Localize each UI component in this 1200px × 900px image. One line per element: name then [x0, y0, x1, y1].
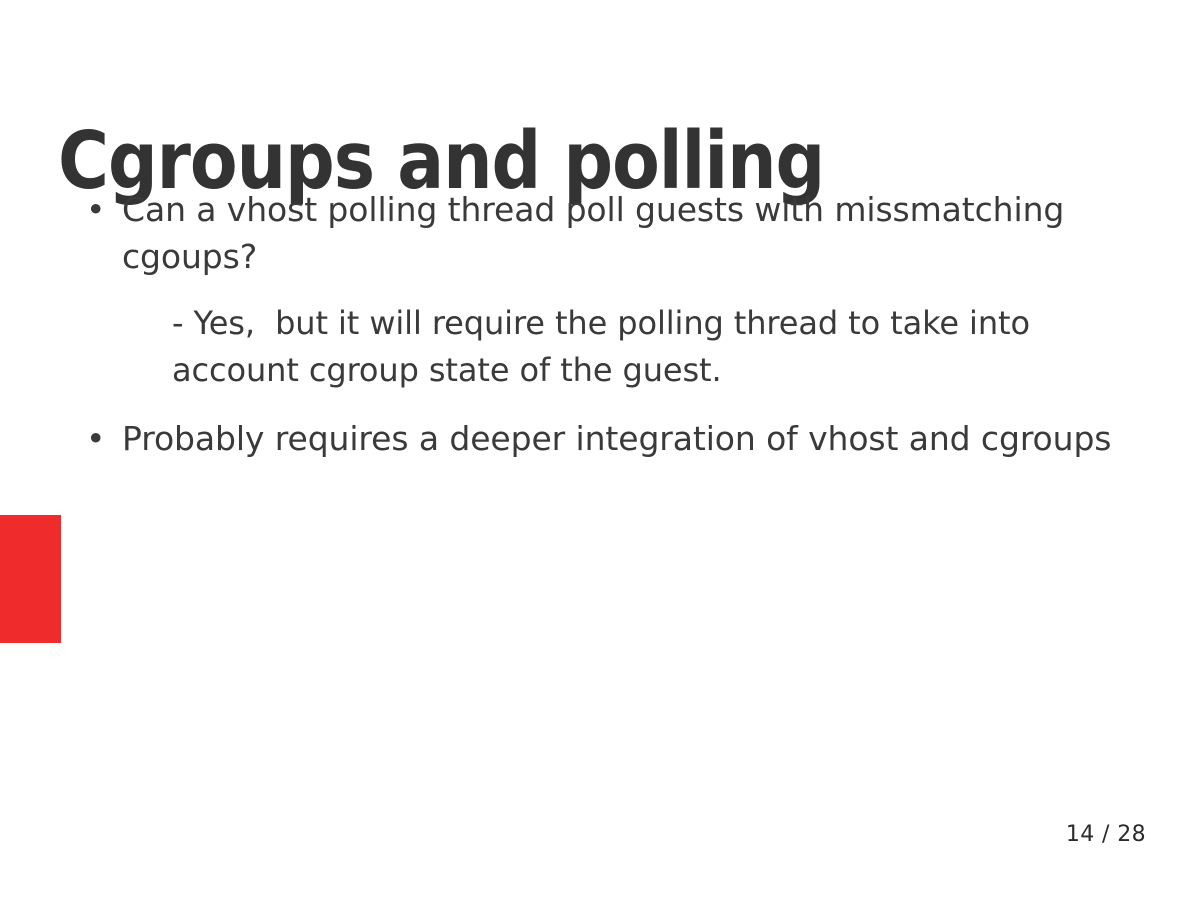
sub-bullet-text: - Yes, but it will require the polling t…: [172, 300, 1080, 394]
list-item: • Probably requires a deeper integration…: [0, 415, 1200, 462]
list-item: • Can a vhost polling thread poll guests…: [0, 186, 1200, 280]
spacer: [0, 394, 1200, 415]
accent-rectangle: [0, 515, 61, 643]
sub-list-item: - Yes, but it will require the polling t…: [0, 300, 1200, 394]
slide-body: • Can a vhost polling thread poll guests…: [0, 186, 1200, 462]
bullet-dot-icon: •: [86, 415, 106, 462]
bullet-text-first: Can a vhost polling thread poll guests w…: [122, 186, 1140, 280]
presentation-slide: Cgroups and polling • Can a vhost pollin…: [0, 0, 1200, 900]
bullet-dot-icon: •: [86, 186, 106, 233]
bullet-text-second: Probably requires a deeper integration o…: [122, 415, 1140, 462]
page-indicator: 14 / 28: [1066, 824, 1146, 846]
